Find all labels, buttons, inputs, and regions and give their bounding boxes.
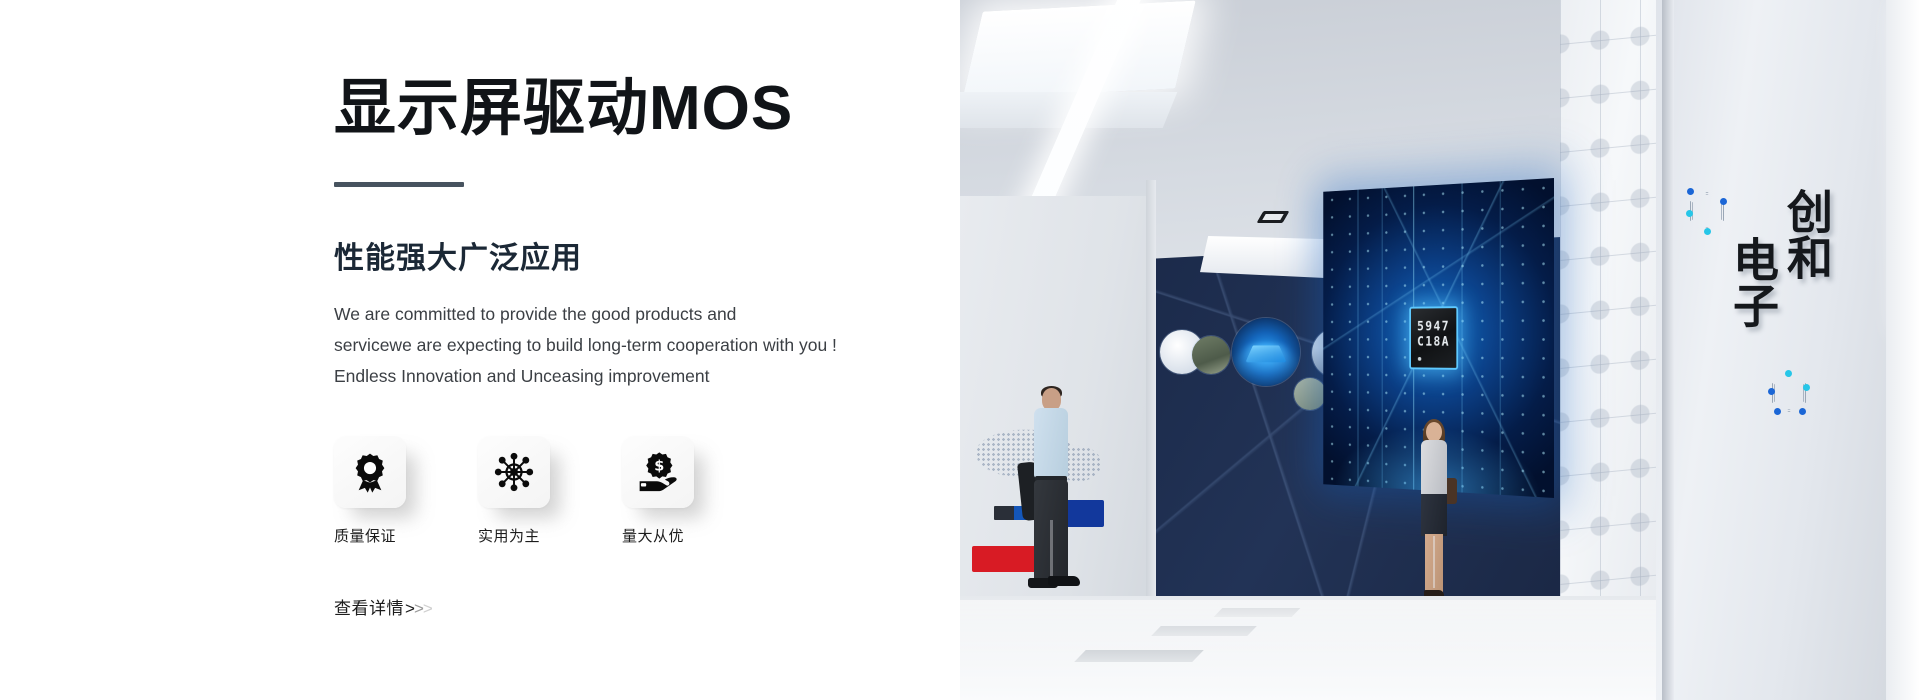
feature-label-bulk-discount: 量大从优: [622, 525, 710, 546]
chevron-right-icon-2: >: [414, 599, 423, 618]
company-wall-sign: 创和 电子: [1682, 188, 1842, 408]
feature-item-quality[interactable]: 质量保证: [334, 436, 422, 546]
womans-leg-gap: [1433, 536, 1435, 588]
description-paragraph: We are committed to provide the good pro…: [334, 299, 934, 392]
exhibit-circle-7: [1294, 378, 1326, 410]
hexagon-molecule-icon-bottom: [1772, 374, 1806, 412]
hexagon-molecule-icon-top: [1690, 192, 1724, 230]
description-line-3: Endless Innovation and Unceasing improve…: [334, 361, 934, 392]
sign-column-left: 电子: [1722, 236, 1784, 328]
chevron-right-icon-3: >: [423, 599, 432, 618]
chip-label-line-1: 5947: [1417, 320, 1450, 335]
network-hub-icon: [493, 451, 535, 493]
womans-skirt: [1421, 494, 1447, 536]
person-standing-man: [1020, 388, 1082, 598]
floor-inlay-2: [1151, 626, 1257, 636]
molecule-node: [1686, 210, 1693, 217]
womans-blouse: [1421, 440, 1447, 496]
hero-banner: 显示屏驱动MOS 性能强大广泛应用 We are committed to pr…: [0, 0, 1920, 700]
description-line-2: servicewe are expecting to build long-te…: [334, 330, 934, 361]
hexagon-outline-top: [1690, 192, 1724, 230]
hero-content: 显示屏驱动MOS 性能强大广泛应用 We are committed to pr…: [334, 0, 934, 619]
womans-head: [1426, 422, 1442, 442]
molecule-node: [1785, 370, 1792, 377]
mans-shoe-right: [1048, 576, 1080, 586]
molecule-node: [1803, 384, 1810, 391]
chip-pin-1-dot: [1418, 357, 1421, 361]
award-ribbon-icon-tile[interactable]: [334, 436, 406, 508]
floor-inlay-1: [1214, 608, 1301, 617]
sign-column-right: 创和: [1776, 188, 1838, 280]
feature-item-practical[interactable]: 实用为主: [478, 436, 566, 546]
person-walking-woman: [1412, 422, 1456, 600]
molecule-node: [1774, 408, 1781, 415]
exhibit-circle-chip-1: [1232, 318, 1300, 386]
mans-shirt: [1034, 408, 1068, 478]
chevron-right-icons: >>>: [405, 599, 432, 619]
network-hub-icon-tile[interactable]: [478, 436, 550, 508]
svg-text:$: $: [654, 459, 664, 475]
feature-list: 质量保证: [334, 436, 934, 546]
molecule-node: [1704, 228, 1711, 235]
molecule-node: [1799, 408, 1806, 415]
molecule-node: [1720, 198, 1727, 205]
hexagon-outline-bottom: [1772, 374, 1806, 412]
right-pillar-edge: [1662, 0, 1674, 700]
hand-money-icon: $: [637, 451, 679, 493]
molecule-node: [1768, 388, 1775, 395]
hero-text-panel: 显示屏驱动MOS 性能强大广泛应用 We are committed to pr…: [0, 0, 960, 700]
view-details-label: 查看详情: [334, 594, 404, 619]
chip-label-line-2: C18A: [1417, 335, 1450, 350]
feature-item-bulk-discount[interactable]: $ 量大从优: [622, 436, 710, 546]
page-title: 显示屏驱动MOS: [334, 78, 934, 140]
award-ribbon-icon: [349, 451, 391, 493]
feature-label-practical: 实用为主: [478, 525, 566, 546]
showroom-photo: 展示区 EXHIBITION AREA 5947 C18A: [960, 0, 1920, 700]
chip-graphic: 5947 C18A: [1409, 306, 1458, 370]
sub-heading: 性能强大广泛应用: [334, 233, 934, 277]
mans-leg-gap: [1050, 520, 1053, 580]
hand-money-icon-tile[interactable]: $: [622, 436, 694, 508]
chevron-right-icon-1: >: [405, 599, 414, 618]
description-line-1: We are committed to provide the good pro…: [334, 299, 934, 330]
floor-inlay-3: [1074, 650, 1204, 662]
title-divider: [334, 182, 464, 187]
molecule-node: [1687, 188, 1694, 195]
view-details-link[interactable]: 查看详情 >>>: [334, 594, 432, 619]
exhibit-circle-2: [1192, 336, 1230, 374]
right-white-strip: [1886, 0, 1920, 700]
feature-label-quality: 质量保证: [334, 525, 422, 546]
exhibition-wall-header-panel: [1200, 236, 1336, 278]
